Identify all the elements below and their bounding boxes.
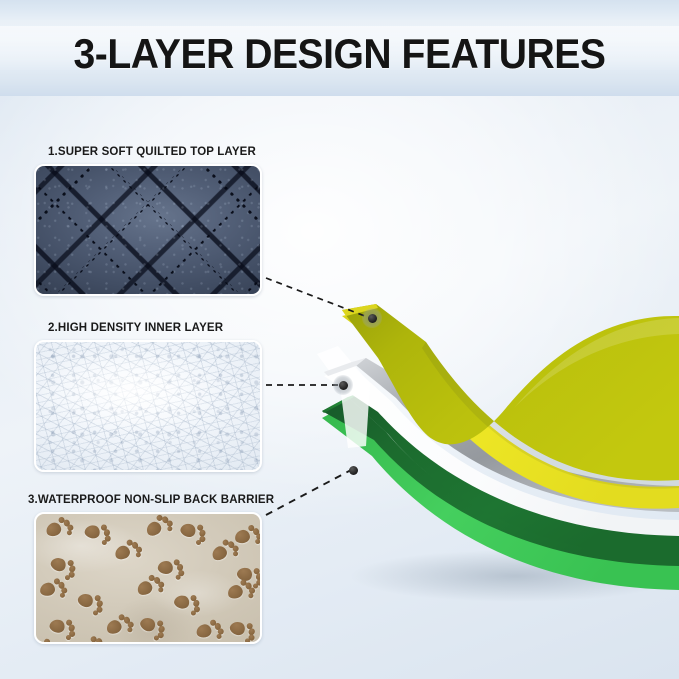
feature-label-back-layer: 3.WATERPROOF NON-SLIP BACK BARRIER	[28, 494, 274, 506]
paw-toe	[99, 642, 107, 644]
quilt-stitch-diagonal-b	[34, 164, 262, 296]
feature-label-top-layer: 1.SUPER SOFT QUILTED TOP LAYER	[34, 146, 262, 158]
paw-pad	[205, 643, 224, 644]
paw-toe	[244, 638, 251, 644]
paw-toe	[184, 642, 191, 644]
paw-toe	[135, 642, 141, 644]
feature-block-top-layer: 1.SUPER SOFT QUILTED TOP LAYER	[34, 146, 262, 296]
feature-label-inner-layer: 2.HIGH DENSITY INNER LAYER	[34, 322, 262, 334]
infographic-canvas: 3-LAYER DESIGN FEATURES	[0, 0, 679, 679]
callout-node-inner-layer	[333, 375, 353, 395]
feature-block-inner-layer: 2.HIGH DENSITY INNER LAYER	[34, 322, 262, 472]
fiber-fill-photo	[34, 340, 262, 472]
fiber-highlight	[36, 342, 260, 470]
connector-back-layer-line	[266, 470, 351, 515]
paw-toe	[47, 643, 54, 644]
paw-pad	[118, 642, 135, 644]
paw-print-backing-photo	[34, 512, 262, 644]
callout-node-back-layer	[343, 460, 363, 480]
quilted-fabric-photo	[34, 164, 262, 296]
feature-block-back-layer: 3.WATERPROOF NON-SLIP BACK BARRIER	[34, 494, 274, 644]
callout-node-top-layer	[362, 308, 382, 328]
paw-toe	[44, 639, 50, 644]
connector-top-layer-line	[266, 278, 370, 318]
